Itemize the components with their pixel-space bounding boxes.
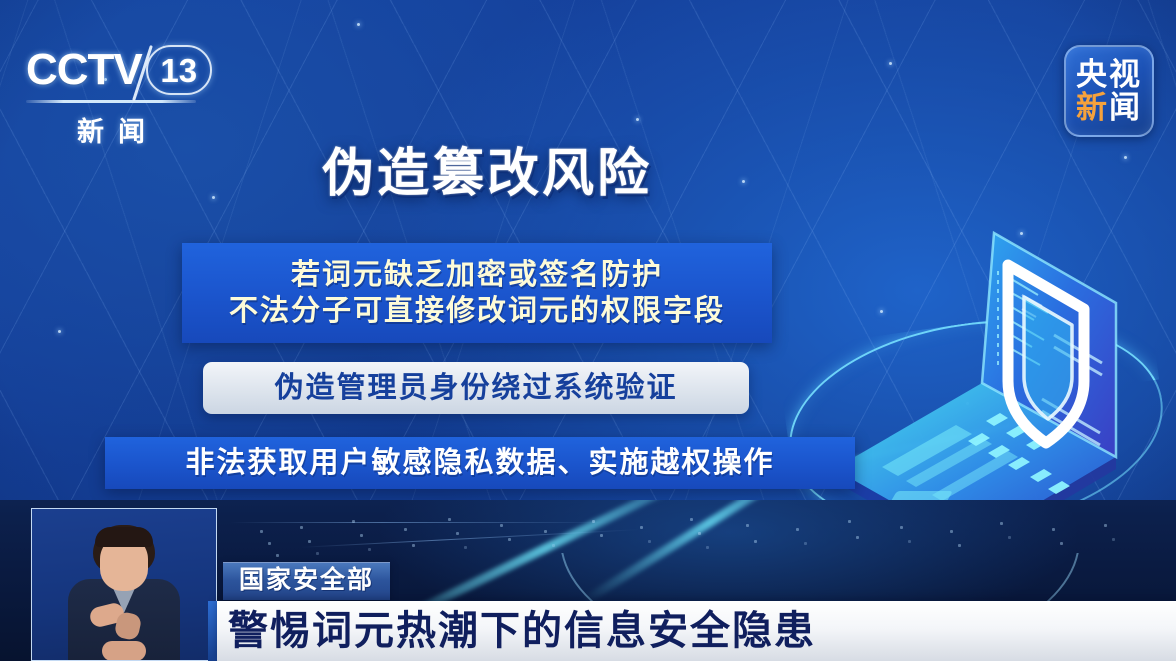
sign-language-interpreter-inset [31,508,217,661]
panel-risk-detail: 若词元缺乏加密或签名防护 不法分子可直接修改词元的权限字段 [182,243,772,343]
news-bar-accent [208,601,217,661]
graphic-title: 伪造篡改风险 [322,148,652,200]
broadcast-screen: CCTV 13 新闻 央视 新 闻 伪造篡改风险 [0,0,1176,661]
department-badge: 国家安全部 [223,562,390,600]
department-badge-label: 国家安全部 [239,568,374,593]
corner-logo-line2: 新 闻 [1076,91,1142,124]
panel-admin-forgery-line-1: 伪造管理员身份绕过系统验证 [274,374,677,403]
corner-logo-line1: 央视 [1076,58,1142,91]
panel-risk-detail-line-1: 若词元缺乏加密或签名防护 [291,258,663,292]
panel-privacy-breach: 非法获取用户敏感隐私数据、实施越权操作 [105,437,855,489]
panel-admin-forgery: 伪造管理员身份绕过系统验证 [203,362,749,414]
news-headline-text: 警惕词元热潮下的信息安全隐患 [228,611,816,651]
cctv-news-corner-logo: 央视 新 闻 [1064,45,1154,137]
corner-logo-char-new: 新 [1076,91,1109,124]
corner-logo-char-news: 闻 [1109,91,1142,124]
panel-risk-detail-line-2: 不法分子可直接修改词元的权限字段 [229,294,725,328]
interpreter-hands-resting [102,641,146,661]
panel-privacy-breach-line-1: 非法获取用户敏感隐私数据、实施越权操作 [185,449,774,478]
interpreter-fringe [95,527,153,547]
news-headline-bar: 警惕词元热潮下的信息安全隐患 [217,601,1176,661]
